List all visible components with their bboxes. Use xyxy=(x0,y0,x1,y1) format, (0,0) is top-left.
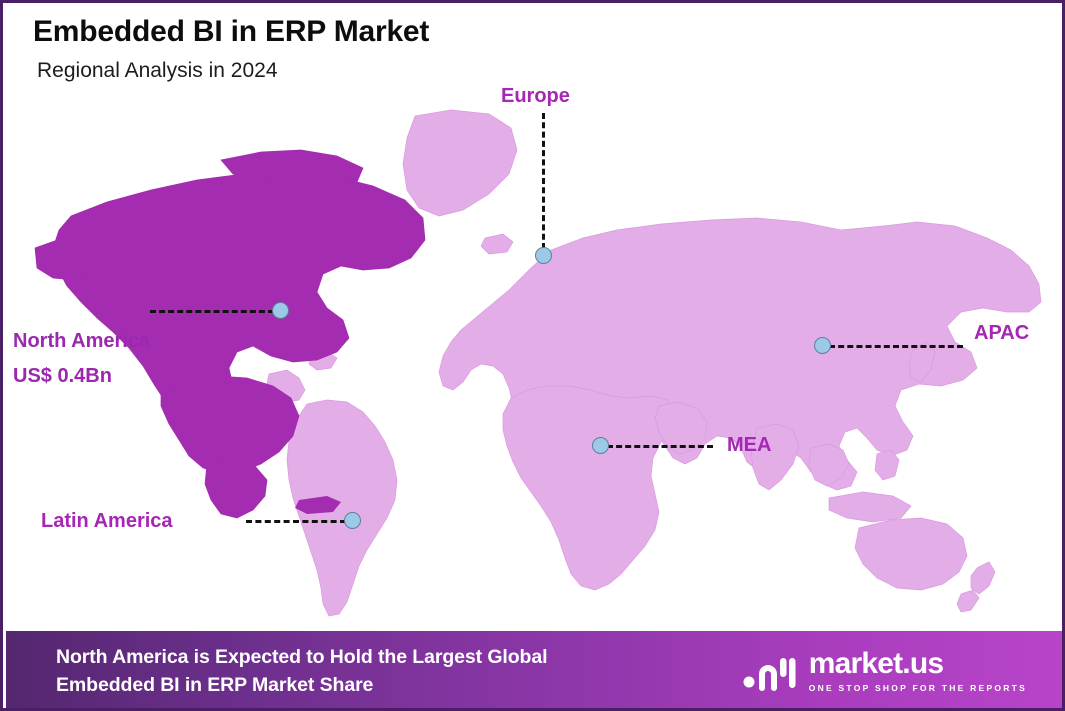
region-label-mea: MEA xyxy=(727,433,771,458)
logo-text: market.us ONE STOP SHOP FOR THE REPORTS xyxy=(809,649,1027,693)
infographic-card: Embedded BI in ERP Market Regional Analy… xyxy=(0,0,1065,711)
market-us-logo[interactable]: market.us ONE STOP SHOP FOR THE REPORTS xyxy=(742,648,1043,694)
banner-line-2: Embedded BI in ERP Market Share xyxy=(56,671,547,699)
page-title: Embedded BI in ERP Market xyxy=(33,15,653,50)
marker-latin-america[interactable] xyxy=(344,512,361,529)
landmass-iceland xyxy=(481,234,513,254)
landmass-indonesia xyxy=(829,492,911,522)
header: Embedded BI in ERP Market Regional Analy… xyxy=(33,15,653,83)
landmass-new-zealand xyxy=(971,562,995,594)
banner-text: North America is Expected to Hold the La… xyxy=(56,643,547,700)
marker-mea[interactable] xyxy=(592,437,609,454)
marker-apac[interactable] xyxy=(814,337,831,354)
marker-europe[interactable] xyxy=(535,247,552,264)
logo-tagline: ONE STOP SHOP FOR THE REPORTS xyxy=(809,683,1027,693)
logo-wordmark: market.us xyxy=(809,649,1027,679)
region-label-latin-america: Latin America xyxy=(41,509,173,534)
region-label-europe: Europe xyxy=(501,84,570,109)
landmass-usa-mexico xyxy=(161,376,299,474)
leader-line-latin-america xyxy=(246,520,346,523)
region-label-north-america: North America US$ 0.4Bn xyxy=(13,329,150,389)
landmass-africa xyxy=(503,386,675,590)
banner-line-1: North America is Expected to Hold the La… xyxy=(56,643,547,671)
world-map: North America US$ 0.4Bn Europe APAC MEA … xyxy=(3,3,1062,628)
logo-mark-icon xyxy=(742,648,798,694)
leader-line-mea xyxy=(607,445,713,448)
world-map-svg xyxy=(11,98,1056,618)
leader-line-north-america xyxy=(150,310,274,313)
landmass-nz-south xyxy=(957,590,979,612)
region-label-apac: APAC xyxy=(974,321,1029,346)
leader-line-europe xyxy=(542,113,545,249)
map-base-continents xyxy=(267,110,1041,616)
landmass-mexico xyxy=(205,460,267,518)
region-name-north-america: North America xyxy=(13,329,150,354)
leader-line-apac xyxy=(829,345,963,348)
page-subtitle: Regional Analysis in 2024 xyxy=(37,59,653,83)
landmass-greenland xyxy=(403,110,517,216)
bottom-banner: North America is Expected to Hold the La… xyxy=(6,631,1065,711)
landmass-australia xyxy=(855,518,967,590)
marker-north-america[interactable] xyxy=(272,302,289,319)
landmass-alaska xyxy=(35,238,99,280)
region-value-north-america: US$ 0.4Bn xyxy=(13,364,150,389)
